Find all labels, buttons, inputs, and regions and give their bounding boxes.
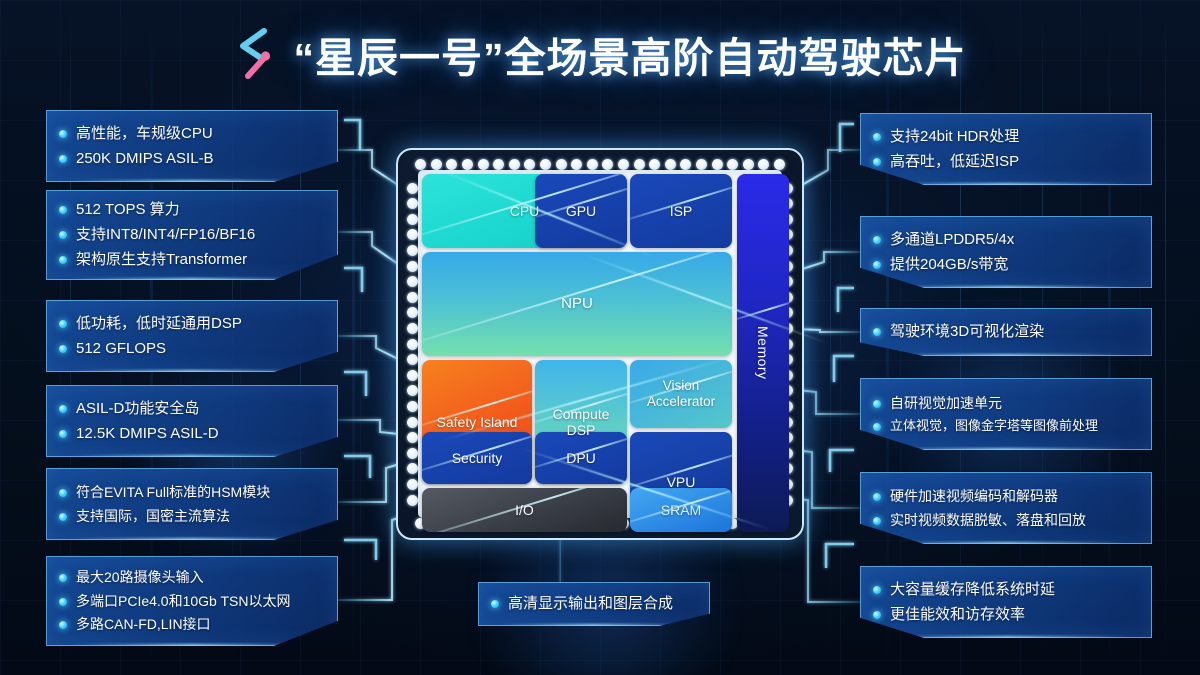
list-item: 立体视觉，图像金字塔等图像前处理 xyxy=(873,415,1137,437)
chip-pin xyxy=(407,463,418,474)
list-item: 512 GFLOPS xyxy=(59,336,323,361)
chip-pin xyxy=(407,417,418,428)
page-title: “星辰一号”全场景高阶自动驾驶芯片 xyxy=(294,24,967,84)
list-item: 512 TOPS 算力 xyxy=(59,198,323,223)
chip-block-npu[interactable]: NPU xyxy=(422,252,732,356)
list-item: 实时视频数据脱敏、落盘和回放 xyxy=(873,508,1137,531)
card-line: 大容量缓存降低系统时延 xyxy=(890,580,1055,600)
chip-pin xyxy=(407,183,418,194)
card-line: 支持国际，国密主流算法 xyxy=(76,507,230,525)
bullet-dot-icon xyxy=(873,400,881,408)
bullet-dot-icon xyxy=(59,574,67,582)
bullet-dot-icon xyxy=(59,320,67,328)
chip-pin xyxy=(618,159,629,170)
list-item: 高清显示输出和图层合成 xyxy=(491,592,697,617)
chip-block-sram[interactable]: SRAM xyxy=(630,488,732,532)
list-item: ASIL-D功能安全岛 xyxy=(59,396,323,421)
chip-pin xyxy=(407,495,418,506)
bullet-dot-icon xyxy=(59,345,67,353)
chip-block-vision-accelerator[interactable]: Vision Accelerator xyxy=(630,360,732,428)
chip-pin xyxy=(493,159,504,170)
list-item: 12.5K DMIPS ASIL-D xyxy=(59,421,323,446)
card-line: 驾驶环境3D可视化渲染 xyxy=(890,322,1044,342)
chip-pin xyxy=(743,159,754,170)
list-item: 硬件加速视频编码和解码器 xyxy=(873,485,1137,508)
card-line: 12.5K DMIPS ASIL-D xyxy=(76,424,219,444)
chip-pin xyxy=(431,159,442,170)
chip-pin xyxy=(602,159,613,170)
chip-pin xyxy=(407,432,418,443)
chip-block-isp[interactable]: ISP xyxy=(630,174,732,248)
bullet-dot-icon xyxy=(59,155,67,163)
bullet-dot-icon xyxy=(59,489,67,497)
list-item: 更佳能效和访存效率 xyxy=(873,602,1137,627)
card-line: 硬件加速视频编码和解码器 xyxy=(890,487,1058,505)
chip-pin xyxy=(540,159,551,170)
bullet-dot-icon xyxy=(873,236,881,244)
card-dpu[interactable]: 高清显示输出和图层合成 xyxy=(478,582,710,626)
card-line: 支持24bit HDR处理 xyxy=(890,127,1019,147)
card-line: 更佳能效和访存效率 xyxy=(890,605,1025,625)
bullet-dot-icon xyxy=(873,261,881,269)
chip-pin xyxy=(407,323,418,334)
card-npu[interactable]: 512 TOPS 算力 支持INT8/INT4/FP16/BF16 架构原生支持… xyxy=(46,190,338,280)
list-item: 多路CAN-FD,LIN接口 xyxy=(59,613,323,636)
chip-pin xyxy=(727,159,738,170)
card-line: 低功耗，低时延通用DSP xyxy=(76,314,242,334)
bullet-dot-icon xyxy=(59,256,67,264)
list-item: 大容量缓存降低系统时延 xyxy=(873,577,1137,602)
card-vpu[interactable]: 硬件加速视频编码和解码器 实时视频数据脱敏、落盘和回放 xyxy=(860,472,1152,544)
chip-pin xyxy=(415,159,426,170)
card-line: 250K DMIPS ASIL-B xyxy=(76,149,214,169)
chip-block-io[interactable]: I/O xyxy=(422,488,627,532)
list-item: 自研视觉加速单元 xyxy=(873,391,1137,414)
card-line: 高性能，车规级CPU xyxy=(76,124,213,144)
chip-pin xyxy=(478,159,489,170)
card-line: 高清显示输出和图层合成 xyxy=(508,594,673,614)
card-io[interactable]: 最大20路摄像头输入 多端口PCIe4.0和10Gb TSN以太网 多路CAN-… xyxy=(46,556,338,646)
chip-pin xyxy=(634,159,645,170)
list-item: 250K DMIPS ASIL-B xyxy=(59,146,323,171)
card-security[interactable]: 符合EVITA Full标准的HSM模块 支持国际，国密主流算法 xyxy=(46,468,338,540)
chip-pin xyxy=(462,159,473,170)
bullet-dot-icon xyxy=(873,328,881,336)
chip-die-diagram: CPU GPU ISP NPU Safety Island Compute DS… xyxy=(396,148,804,540)
card-line: 512 TOPS 算力 xyxy=(76,200,180,220)
chip-pin xyxy=(407,307,418,318)
chip-pin xyxy=(680,159,691,170)
card-dsp[interactable]: 低功耗，低时延通用DSP 512 GFLOPS xyxy=(46,300,338,372)
list-item: 符合EVITA Full标准的HSM模块 xyxy=(59,481,323,504)
card-line: 支持INT8/INT4/FP16/BF16 xyxy=(76,225,255,245)
chip-pin xyxy=(556,159,567,170)
bullet-dot-icon xyxy=(873,586,881,594)
card-line: 符合EVITA Full标准的HSM模块 xyxy=(76,483,270,501)
card-line: 自研视觉加速单元 xyxy=(890,394,1002,412)
card-isp[interactable]: 支持24bit HDR处理 高吞吐，低延迟ISP xyxy=(860,113,1152,185)
bullet-dot-icon xyxy=(873,611,881,619)
list-item: 高吞吐，低延迟ISP xyxy=(873,149,1137,174)
list-item: 支持24bit HDR处理 xyxy=(873,124,1137,149)
chip-pin xyxy=(407,292,418,303)
list-item: 支持INT8/INT4/FP16/BF16 xyxy=(59,223,323,248)
chip-pin xyxy=(407,385,418,396)
card-line: ASIL-D功能安全岛 xyxy=(76,399,199,419)
chip-pin xyxy=(407,198,418,209)
card-sram[interactable]: 大容量缓存降低系统时延 更佳能效和访存效率 xyxy=(860,566,1152,638)
list-item: 最大20路摄像头输入 xyxy=(59,566,323,589)
chip-block-memory[interactable]: Memory xyxy=(737,174,789,532)
bullet-dot-icon xyxy=(59,513,67,521)
bullet-dot-icon xyxy=(59,231,67,239)
chip-pin xyxy=(696,159,707,170)
list-item: 架构原生支持Transformer xyxy=(59,247,323,272)
card-safety[interactable]: ASIL-D功能安全岛 12.5K DMIPS ASIL-D xyxy=(46,385,338,457)
brand-logo-icon xyxy=(234,27,280,81)
chip-pin xyxy=(774,159,785,170)
list-item: 多通道LPDDR5/4x xyxy=(873,227,1137,252)
bullet-dot-icon xyxy=(59,430,67,438)
chip-pin xyxy=(407,370,418,381)
chip-pin xyxy=(509,159,520,170)
chip-block-security[interactable]: Security xyxy=(422,432,532,484)
card-line: 提供204GB/s带宽 xyxy=(890,255,1008,275)
bullet-dot-icon xyxy=(491,600,499,608)
list-item: 支持国际，国密主流算法 xyxy=(59,504,323,527)
chip-pin xyxy=(446,159,457,170)
chip-pin xyxy=(407,339,418,350)
bullet-dot-icon xyxy=(873,133,881,141)
chip-pin xyxy=(587,159,598,170)
chip-block-dpu[interactable]: DPU xyxy=(535,432,627,484)
infographic-stage: “星辰一号”全场景高阶自动驾驶芯片 高性能，车规级CPU 250K DMIPS … xyxy=(0,0,1200,675)
chip-pin xyxy=(571,159,582,170)
list-item: 低功耗，低时延通用DSP xyxy=(59,311,323,336)
card-line: 立体视觉，图像金字塔等图像前处理 xyxy=(890,417,1098,434)
list-item: 高性能，车规级CPU xyxy=(59,121,323,146)
card-line: 512 GFLOPS xyxy=(76,339,166,359)
bullet-dot-icon xyxy=(873,158,881,166)
chip-die: CPU GPU ISP NPU Safety Island Compute DS… xyxy=(418,170,782,518)
list-item: 多端口PCIe4.0和10Gb TSN以太网 xyxy=(59,589,323,612)
bullet-dot-icon xyxy=(873,423,881,431)
chip-pin xyxy=(407,245,418,256)
card-line: 多通道LPDDR5/4x xyxy=(890,230,1014,250)
chip-pin xyxy=(649,159,660,170)
header: “星辰一号”全场景高阶自动驾驶芯片 xyxy=(0,24,1200,84)
card-memory[interactable]: 多通道LPDDR5/4x 提供204GB/s带宽 xyxy=(860,216,1152,288)
list-item: 驾驶环境3D可视化渲染 xyxy=(873,320,1137,345)
chip-pin xyxy=(665,159,676,170)
chip-pin xyxy=(407,479,418,490)
list-item: 提供204GB/s带宽 xyxy=(873,252,1137,277)
chip-pin xyxy=(407,261,418,272)
card-line: 实时视频数据脱敏、落盘和回放 xyxy=(890,511,1086,529)
chip-pin xyxy=(758,159,769,170)
chip-pin xyxy=(407,229,418,240)
chip-pin xyxy=(407,214,418,225)
bullet-dot-icon xyxy=(873,517,881,525)
card-line: 多路CAN-FD,LIN接口 xyxy=(76,615,211,633)
chip-pin xyxy=(712,159,723,170)
bullet-dot-icon xyxy=(59,621,67,629)
card-gpu[interactable]: 驾驶环境3D可视化渲染 xyxy=(860,308,1152,356)
chip-pin xyxy=(524,159,535,170)
bullet-dot-icon xyxy=(59,598,67,606)
bullet-dot-icon xyxy=(59,130,67,138)
card-line: 架构原生支持Transformer xyxy=(76,250,247,270)
bullet-dot-icon xyxy=(873,493,881,501)
card-line: 最大20路摄像头输入 xyxy=(76,568,204,586)
chip-pin xyxy=(407,354,418,365)
card-line: 高吞吐，低延迟ISP xyxy=(890,152,1019,172)
bullet-dot-icon xyxy=(59,405,67,413)
chip-pin xyxy=(407,276,418,287)
chip-pin xyxy=(407,401,418,412)
card-line: 多端口PCIe4.0和10Gb TSN以太网 xyxy=(76,592,290,610)
bullet-dot-icon xyxy=(59,206,67,214)
card-cpu[interactable]: 高性能，车规级CPU 250K DMIPS ASIL-B xyxy=(46,110,338,182)
card-vision-accelerator[interactable]: 自研视觉加速单元 立体视觉，图像金字塔等图像前处理 xyxy=(860,378,1152,450)
chip-pin xyxy=(407,448,418,459)
